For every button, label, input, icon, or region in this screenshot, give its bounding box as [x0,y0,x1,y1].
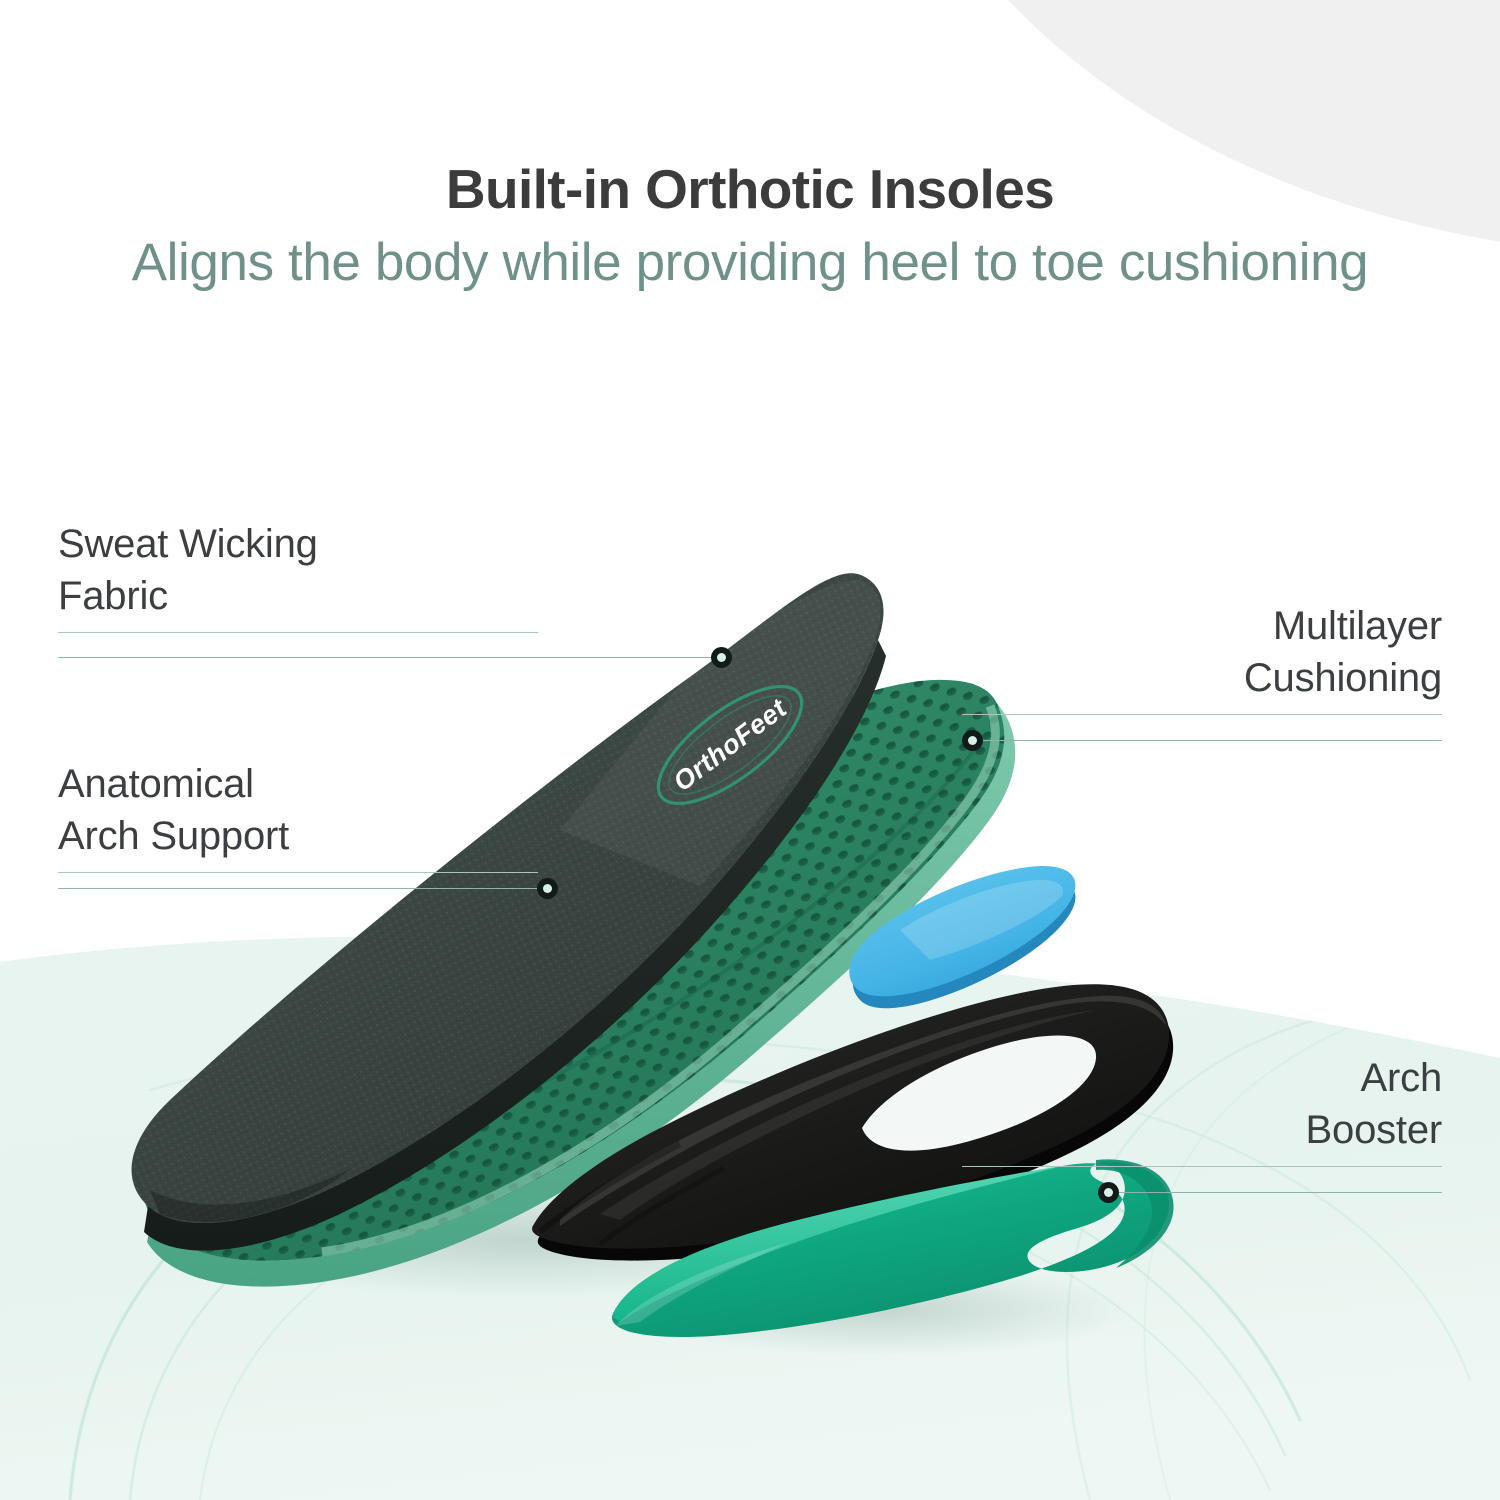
callout-label-sweat-wicking-fabric: Sweat Wicking Fabric [58,518,538,622]
callout-multilayer-cushioning: Multilayer Cushioning [962,600,1442,715]
hotspot-dot-anatomical-arch-support [537,878,558,899]
leader-line-multilayer-cushioning [983,740,1442,741]
callout-rule-arch-booster [962,1166,1442,1167]
page-subtitle: Aligns the body while providing heel to … [0,233,1500,293]
callout-rule-multilayer-cushioning [962,714,1442,715]
infographic-canvas: OrthoFeet [0,0,1500,1500]
callout-rule-anatomical-arch-support [58,872,538,873]
hotspot-dot-arch-booster [1098,1182,1119,1203]
hotspot-dot-sweat-wicking-fabric [711,647,732,668]
callout-arch-booster: Arch Booster [962,1052,1442,1167]
callout-anatomical-arch-support: Anatomical Arch Support [58,758,538,873]
page-title: Built-in Orthotic Insoles [0,160,1500,219]
callout-label-multilayer-cushioning: Multilayer Cushioning [962,600,1442,704]
callout-label-anatomical-arch-support: Anatomical Arch Support [58,758,538,862]
callout-label-arch-booster: Arch Booster [962,1052,1442,1156]
leader-line-sweat-wicking-fabric [58,657,716,658]
leader-line-arch-booster [1118,1192,1442,1193]
callout-sweat-wicking-fabric: Sweat Wicking Fabric [58,518,538,633]
leader-line-anatomical-arch-support [58,888,542,889]
heading-block: Built-in Orthotic Insoles Aligns the bod… [0,160,1500,294]
callout-rule-sweat-wicking-fabric [58,632,538,633]
hotspot-dot-multilayer-cushioning [962,730,983,751]
